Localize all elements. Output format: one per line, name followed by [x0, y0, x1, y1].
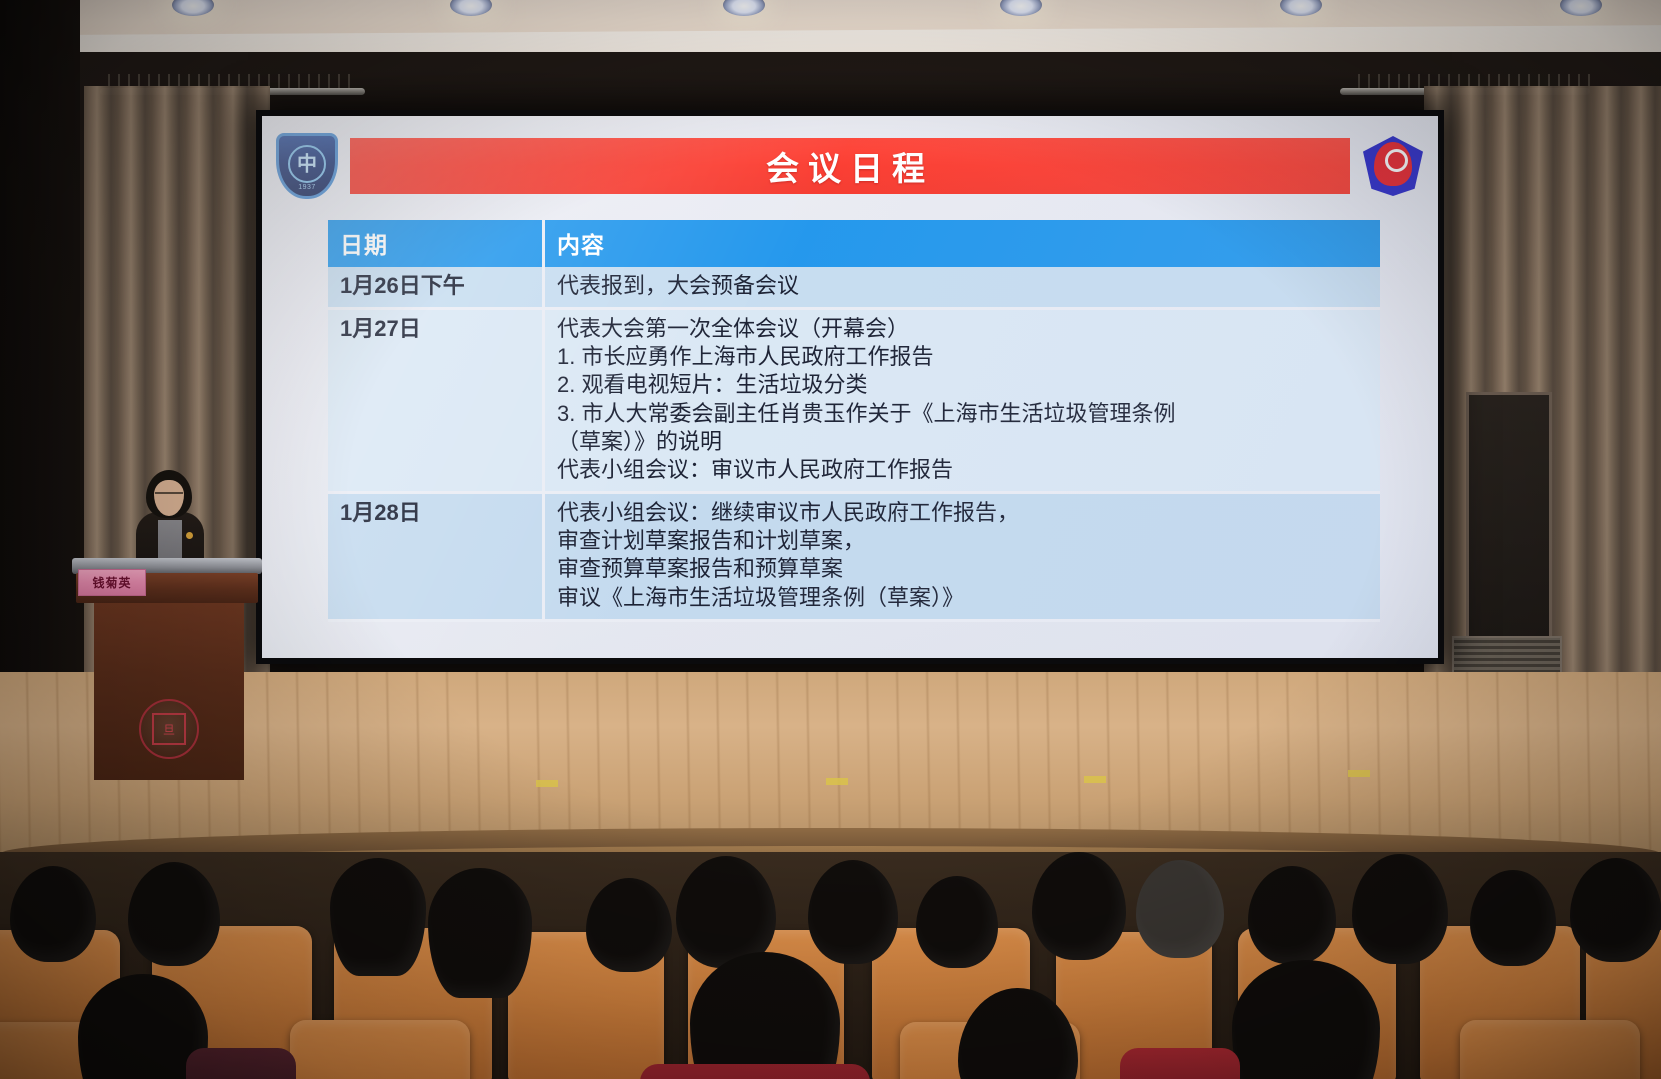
glasses-icon	[155, 492, 183, 501]
audience-head	[1470, 870, 1556, 966]
stage-floor-marker	[536, 780, 558, 787]
cell-date: 1月27日	[328, 309, 544, 493]
column-header-content: 内容	[544, 220, 1381, 267]
podium-body: 旦	[94, 603, 244, 780]
emblem-icon	[1354, 132, 1432, 200]
content-line: 代表大会第一次全体会议（开幕会）	[557, 315, 1368, 343]
content-line: 3. 市人大常委会副主任肖贵玉作关于《上海市生活垃圾管理条例	[557, 400, 1368, 428]
agenda-table: 日期 内容 1月26日下午 代表报到，大会预备会议 1月27日 代表大	[328, 220, 1380, 622]
cell-date: 1月28日	[328, 493, 544, 621]
table-row: 1月27日 代表大会第一次全体会议（开幕会） 1. 市长应勇作上海市人民政府工作…	[328, 309, 1380, 493]
content-line: 代表小组会议：审议市人民政府工作报告	[557, 456, 1368, 484]
shield-glyph-label: 中	[297, 148, 317, 177]
seat[interactable]	[290, 1020, 470, 1079]
nameplate-text: 钱菊英	[92, 574, 131, 591]
audience-head	[1248, 866, 1336, 964]
content-line: 代表报到，大会预备会议	[557, 272, 1368, 300]
emblem-white-ring	[1385, 149, 1408, 172]
audience-jacket	[186, 1048, 296, 1079]
hospital-emblem-logo	[1354, 132, 1432, 200]
audience-head	[10, 866, 96, 962]
presentation-slide: 中 1937 会议日程	[262, 116, 1438, 658]
content-line: 1. 市长应勇作上海市人民政府工作报告	[557, 343, 1368, 371]
cell-content: 代表报到，大会预备会议	[544, 267, 1381, 309]
content-line: 审议《上海市生活垃圾管理条例（草案）》	[557, 584, 1368, 612]
column-header-date: 日期	[328, 220, 544, 267]
shield-icon: 中 1937	[276, 133, 338, 199]
audience-head	[808, 860, 898, 964]
content-line: 代表小组会议：继续审议市人民政府工作报告，	[557, 499, 1368, 527]
audience-head	[1570, 858, 1661, 962]
audience-jacket	[640, 1064, 870, 1079]
audience-head	[128, 862, 220, 966]
speaker-nameplate: 钱菊英	[78, 569, 146, 596]
speaker-badge	[186, 532, 193, 539]
slide-title-banner: 会议日程	[350, 138, 1350, 194]
audience-jacket	[1120, 1048, 1240, 1079]
audience-area	[0, 852, 1661, 1079]
seat[interactable]	[1460, 1020, 1640, 1079]
audience-head	[916, 876, 998, 968]
content-line: 审查计划草案报告和计划草案，	[557, 527, 1368, 555]
zhongshan-hospital-shield-logo: 中 1937	[272, 131, 346, 201]
slide-header: 中 1937 会议日程	[262, 130, 1438, 202]
table-header-row: 日期 内容	[328, 220, 1380, 267]
cell-date: 1月26日下午	[328, 267, 544, 309]
auditorium-scene: 中 1937 会议日程	[0, 0, 1661, 1079]
content-line: 审查预算草案报告和预算草案	[557, 555, 1368, 583]
audience-head	[586, 878, 672, 972]
table-row: 1月26日下午 代表报到，大会预备会议	[328, 267, 1380, 309]
fudan-university-emblem: 旦	[139, 699, 199, 759]
projection-screen: 中 1937 会议日程	[262, 116, 1438, 658]
audience-head	[1352, 854, 1448, 964]
shield-year-label: 1937	[279, 184, 335, 191]
slide-title: 会议日程	[766, 142, 934, 190]
table-row: 1月28日 代表小组会议：继续审议市人民政府工作报告， 审查计划草案报告和计划草…	[328, 493, 1380, 621]
stage-floor-marker	[1348, 770, 1370, 777]
audience-head	[330, 858, 426, 976]
audience-head	[1136, 860, 1224, 958]
cell-content: 代表大会第一次全体会议（开幕会） 1. 市长应勇作上海市人民政府工作报告 2. …	[544, 309, 1381, 493]
emblem-glyph-label: 旦	[152, 713, 186, 745]
content-line: （草案）》的说明	[557, 428, 1368, 456]
stage-floor-marker	[826, 778, 848, 785]
cell-content: 代表小组会议：继续审议市人民政府工作报告， 审查计划草案报告和计划草案， 审查预…	[544, 493, 1381, 621]
audience-head	[1032, 852, 1126, 960]
audience-head	[428, 868, 532, 998]
stage-floor-marker	[1084, 776, 1106, 783]
content-line: 2. 观看电视短片：生活垃圾分类	[557, 371, 1368, 399]
